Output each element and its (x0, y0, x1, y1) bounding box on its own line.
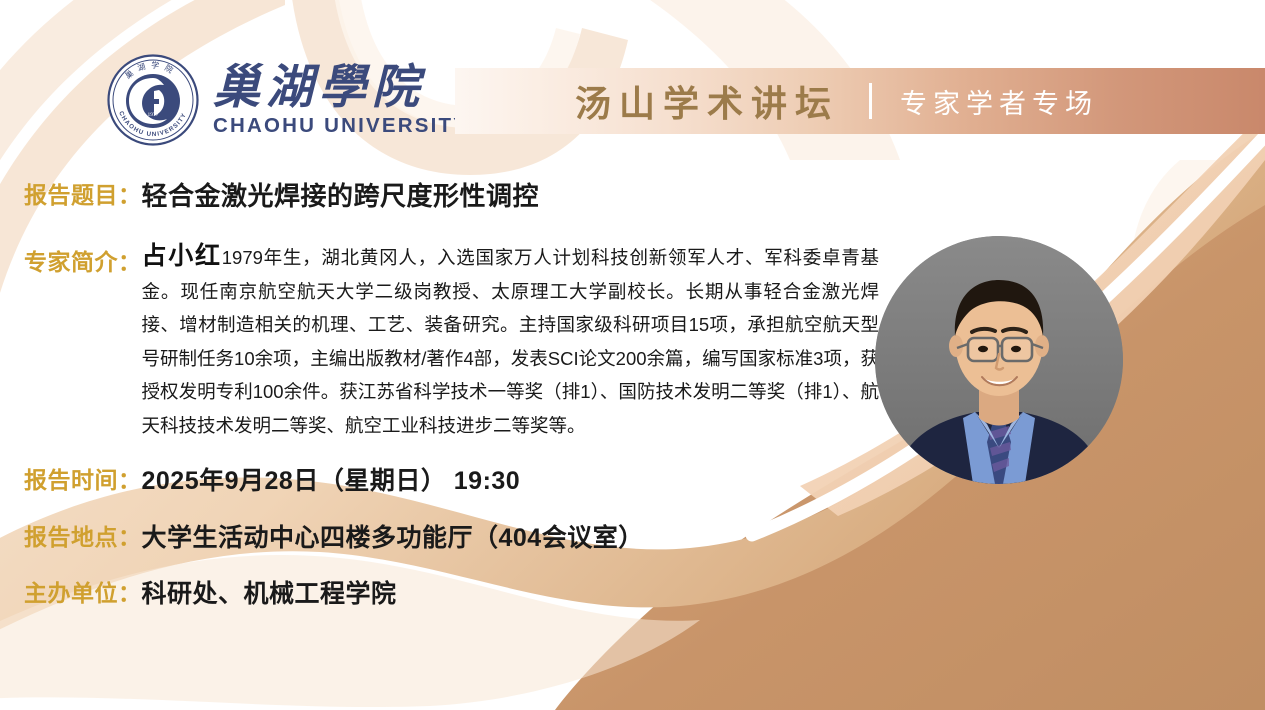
forum-banner: 汤山学术讲坛 专家学者专场 (455, 68, 1265, 134)
poster-header: 1977 巢湖学院 CHAOHU UNIVERSITY 巢湖學院 CHAOHU … (0, 0, 1265, 160)
label-speaker-bio: 专家简介： (24, 240, 142, 277)
university-wordmark: 巢湖學院 CHAOHU UNIVERSITY (213, 64, 469, 139)
speaker-bio-text: 1979年生，湖北黄冈人，入选国家万人计划科技创新领军人才、军科委卓青基金。现任… (142, 247, 880, 436)
label-report-place: 报告地点： (24, 518, 142, 552)
label-report-time: 报告时间： (24, 461, 142, 495)
wash-right (1130, 160, 1265, 520)
university-name-en: CHAOHU UNIVERSITY (213, 114, 469, 139)
university-seal-icon: 1977 巢湖学院 CHAOHU UNIVERSITY (107, 54, 199, 146)
label-report-title: 报告题目： (24, 176, 142, 210)
row-report-title: 报告题目： 轻合金激光焊接的跨尺度形性调控 (24, 176, 539, 213)
value-host-unit: 科研处、机械工程学院 (142, 574, 397, 610)
forum-title: 汤山学术讲坛 (575, 75, 839, 127)
seal-year: 1977 (148, 112, 159, 118)
row-report-place: 报告地点： 大学生活动中心四楼多功能厅（404会议室） (24, 518, 644, 554)
value-report-time: 2025年9月28日（星期日） 19:30 (142, 461, 521, 497)
speaker-bio-body: 占小红1979年生，湖北黄冈人，入选国家万人计划科技创新领军人才、军科委卓青基金… (142, 240, 880, 442)
row-host-unit: 主办单位： 科研处、机械工程学院 (24, 574, 397, 610)
value-report-title: 轻合金激光焊接的跨尺度形性调控 (142, 176, 540, 213)
speaker-name: 占小红 (142, 242, 222, 270)
label-host-unit: 主办单位： (24, 574, 142, 608)
speaker-portrait (875, 236, 1123, 484)
row-speaker-bio: 专家简介： 占小红1979年生，湖北黄冈人，入选国家万人计划科技创新领军人才、军… (24, 240, 879, 442)
university-name-cn: 巢湖學院 (213, 64, 469, 113)
forum-subtitle: 专家学者专场 (900, 82, 1098, 121)
poster-root: 1977 巢湖学院 CHAOHU UNIVERSITY 巢湖學院 CHAOHU … (0, 0, 1265, 710)
value-report-place: 大学生活动中心四楼多功能厅（404会议室） (142, 518, 644, 554)
university-logo: 1977 巢湖学院 CHAOHU UNIVERSITY 巢湖學院 CHAOHU … (107, 54, 469, 146)
banner-divider (869, 83, 872, 119)
row-report-time: 报告时间： 2025年9月28日（星期日） 19:30 (24, 461, 520, 497)
